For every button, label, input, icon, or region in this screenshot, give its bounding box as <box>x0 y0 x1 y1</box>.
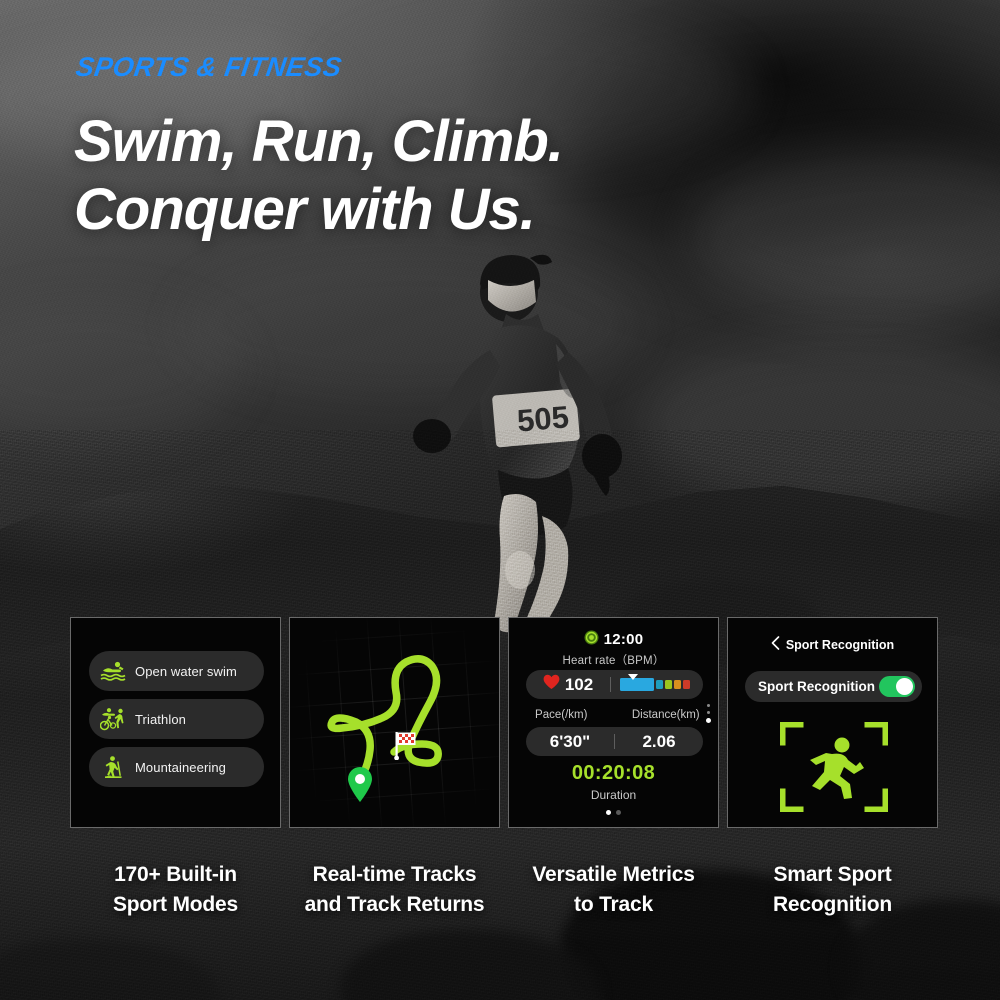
caption-versatile-metrics: Versatile Metrics to Track <box>508 860 719 920</box>
feature-cards-row: Open water swim Triathlon <box>70 617 930 828</box>
distance-value: 2.06 <box>615 732 703 752</box>
headline-line-1: Swim, Run, Climb. <box>74 108 563 176</box>
toggle-knob <box>896 678 913 695</box>
page-title: Swim, Run, Climb. Conquer with Us. <box>74 108 563 244</box>
pace-value: 6'30" <box>526 732 614 752</box>
eyebrow-label: SPORTS & FITNESS <box>74 52 344 83</box>
duration-label: Duration <box>509 788 718 802</box>
scroll-dot-active <box>706 718 711 723</box>
heart-rate-label: Heart rate（BPM） <box>509 652 718 668</box>
list-item[interactable]: Triathlon <box>89 699 264 739</box>
zone-bar-4 <box>674 680 681 689</box>
card-realtime-track[interactable] <box>289 617 500 828</box>
caption-sport-modes: 170+ Built-in Sport Modes <box>70 860 281 920</box>
heart-icon <box>543 674 560 695</box>
pace-distance-labels: Pace(/km) Distance(km) <box>509 709 718 721</box>
caption-smart-recognition: Smart Sport Recognition <box>727 860 938 920</box>
pace-label: Pace(/km) <box>509 709 614 721</box>
caption-line-2: to Track <box>508 890 719 920</box>
feature-captions-row: 170+ Built-in Sport Modes Real-time Trac… <box>70 860 930 920</box>
heart-rate-bar: 102 <box>526 670 703 699</box>
list-item[interactable]: Mountaineering <box>89 747 264 787</box>
zone-bar-2 <box>656 680 663 689</box>
caption-line-2: Sport Modes <box>70 890 281 920</box>
watch-status-bar: 12:00 <box>509 630 718 650</box>
heart-rate-zone-chart <box>611 678 690 691</box>
route-path <box>290 618 500 828</box>
sport-recognition-setting-row[interactable]: Sport Recognition <box>745 671 922 702</box>
caption-line-1: Smart Sport <box>727 860 938 890</box>
screen-title: Sport Recognition <box>786 638 894 652</box>
checkered-flag-icon <box>392 730 418 760</box>
caption-line-1: Versatile Metrics <box>508 860 719 890</box>
card-versatile-metrics[interactable]: 12:00 Heart rate（BPM） 102 <box>508 617 719 828</box>
gps-signal-icon <box>584 630 599 649</box>
card-sport-modes[interactable]: Open water swim Triathlon <box>70 617 281 828</box>
open-water-swim-icon <box>100 659 126 683</box>
scroll-dot <box>707 711 710 714</box>
caption-line-2: and Track Returns <box>289 890 500 920</box>
list-item-label: Triathlon <box>135 712 186 727</box>
zone-marker <box>628 674 638 680</box>
scroll-indicator[interactable] <box>706 704 711 723</box>
mountaineering-icon <box>100 755 126 779</box>
caption-line-2: Recognition <box>727 890 938 920</box>
list-item[interactable]: Open water swim <box>89 651 264 691</box>
list-item-label: Open water swim <box>135 664 237 679</box>
caption-realtime-tracks: Real-time Tracks and Track Returns <box>289 860 500 920</box>
screen-header: Sport Recognition <box>728 636 937 653</box>
sport-mode-list: Open water swim Triathlon <box>89 651 264 795</box>
headline-line-2: Conquer with Us. <box>74 176 563 244</box>
page-indicator <box>509 810 718 815</box>
duration-value: 00:20:08 <box>509 762 718 785</box>
pace-distance-bar: 6'30" 2.06 <box>526 727 703 756</box>
running-person-scan-icon <box>780 722 888 812</box>
page-dot-active <box>606 810 611 815</box>
scroll-dot <box>707 704 710 707</box>
sport-recognition-toggle[interactable] <box>879 676 915 697</box>
zone-bar-3 <box>665 680 672 689</box>
caption-line-1: 170+ Built-in <box>70 860 281 890</box>
list-item-label: Mountaineering <box>135 760 226 775</box>
page-dot <box>616 810 621 815</box>
distance-label: Distance(km) <box>614 709 719 721</box>
toggle-label: Sport Recognition <box>758 679 875 694</box>
caption-line-1: Real-time Tracks <box>289 860 500 890</box>
heart-rate-value: 102 <box>565 675 593 695</box>
location-pin-icon <box>345 765 375 803</box>
clock-time: 12:00 <box>604 631 644 648</box>
zone-bar-5 <box>683 680 690 689</box>
chevron-left-icon[interactable] <box>771 636 780 653</box>
triathlon-icon <box>100 707 126 731</box>
card-sport-recognition[interactable]: Sport Recognition Sport Recognition <box>727 617 938 828</box>
